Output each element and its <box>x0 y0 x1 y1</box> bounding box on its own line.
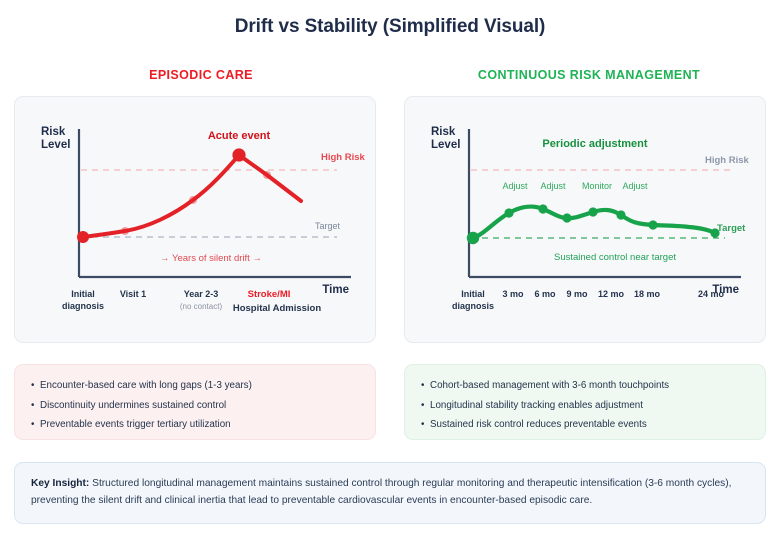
episodic-care-chart: Risk Level High Risk Target Acute event … <box>15 97 375 342</box>
data-point-12-mo <box>588 207 597 216</box>
annotation-monitor: Monitor <box>582 181 612 191</box>
annotation-adjust-3: Adjust <box>622 181 648 191</box>
list-item: Cohort-based management with 3-6 month t… <box>421 376 749 396</box>
x-tick-9-mo: 9 mo <box>566 289 588 299</box>
x-tick-stroke-mi: Stroke/MI <box>248 289 291 300</box>
y-axis-label-line1: Risk <box>431 126 456 138</box>
chart-panel-continuous: Risk Level High Risk Target Periodic adj… <box>404 96 766 343</box>
key-insight-body: Structured longitudinal management maint… <box>31 478 731 506</box>
x-tick-12-mo: 12 mo <box>598 289 625 299</box>
data-point-acute-event <box>232 148 245 161</box>
x-tick-3-mo: 3 mo <box>502 289 524 299</box>
annotation-adjust-1: Adjust <box>502 181 528 191</box>
x-tick-visit-1: Visit 1 <box>120 289 146 299</box>
x-tick-18-mo: 18 mo <box>634 289 661 299</box>
annotation-sustained-control: Sustained control near target <box>554 252 676 263</box>
x-tick-year-2-3: Year 2-3 <box>184 289 219 299</box>
x-tick-initial-line2: diagnosis <box>62 301 104 311</box>
chart-panel-episodic: Risk Level High Risk Target Acute event … <box>14 96 376 343</box>
key-insight-box: Key Insight: Structured longitudinal man… <box>14 462 766 524</box>
high-risk-label: High Risk <box>705 155 750 166</box>
data-point-6-mo <box>538 204 547 213</box>
y-axis-label-line2: Level <box>41 139 70 151</box>
y-axis-label-line1: Risk <box>41 126 66 138</box>
data-point-18-mo <box>616 210 625 219</box>
data-point-3-mo <box>504 208 513 217</box>
x-tick-hospital-admission: Hospital Admission <box>233 303 322 314</box>
x-tick-24-mo: 24 mo <box>698 289 725 299</box>
x-tick-initial-line1: Initial <box>71 289 95 299</box>
continuous-risk-chart: Risk Level High Risk Target Periodic adj… <box>405 97 765 342</box>
target-label: Target <box>315 221 341 231</box>
data-point-initial-diagnosis <box>77 231 89 243</box>
continuous-risk-bullets: Cohort-based management with 3-6 month t… <box>404 364 766 440</box>
key-insight-label: Key Insight: <box>31 478 89 489</box>
episodic-risk-curve <box>83 155 301 237</box>
infographic-page: Drift vs Stability (Simplified Visual) E… <box>0 0 780 539</box>
data-point-initial-diagnosis <box>467 232 479 244</box>
annotation-acute-event: Acute event <box>208 130 271 142</box>
x-tick-initial-line2: diagnosis <box>452 301 494 311</box>
x-axis-label: Time <box>322 284 349 296</box>
list-item: Discontinuity undermines sustained contr… <box>31 396 359 416</box>
list-item: Sustained risk control reduces preventab… <box>421 415 749 435</box>
data-point-9-mo <box>562 213 571 222</box>
x-tick-initial-line1: Initial <box>461 289 485 299</box>
column-header-continuous: CONTINUOUS RISK MANAGEMENT <box>402 68 776 82</box>
data-point-year-2-3 <box>189 196 197 204</box>
bullet-list: Encounter-based care with long gaps (1-3… <box>31 376 359 435</box>
data-point-24-mo <box>710 228 719 237</box>
column-header-episodic: EPISODIC CARE <box>14 68 388 82</box>
y-axis-label-line2: Level <box>431 139 460 151</box>
annotation-periodic-adjustment: Periodic adjustment <box>542 138 647 150</box>
list-item: Encounter-based care with long gaps (1-3… <box>31 376 359 396</box>
x-tick-6-mo: 6 mo <box>534 289 556 299</box>
high-risk-label: High Risk <box>321 152 366 163</box>
list-item: Preventable events trigger tertiary util… <box>31 415 359 435</box>
x-tick-no-contact: (no contact) <box>180 302 223 311</box>
target-label: Target <box>717 223 746 234</box>
data-point-interim <box>648 220 657 229</box>
key-insight-text: Key Insight: Structured longitudinal man… <box>31 475 749 509</box>
annotation-adjust-2: Adjust <box>540 181 566 191</box>
data-point-visit-1 <box>121 227 129 235</box>
list-item: Longitudinal stability tracking enables … <box>421 396 749 416</box>
annotation-silent-drift: → Years of silent drift → <box>160 253 262 264</box>
data-point-post-event <box>263 171 271 179</box>
episodic-care-bullets: Encounter-based care with long gaps (1-3… <box>14 364 376 440</box>
bullet-list: Cohort-based management with 3-6 month t… <box>421 376 749 435</box>
page-title: Drift vs Stability (Simplified Visual) <box>0 16 780 38</box>
